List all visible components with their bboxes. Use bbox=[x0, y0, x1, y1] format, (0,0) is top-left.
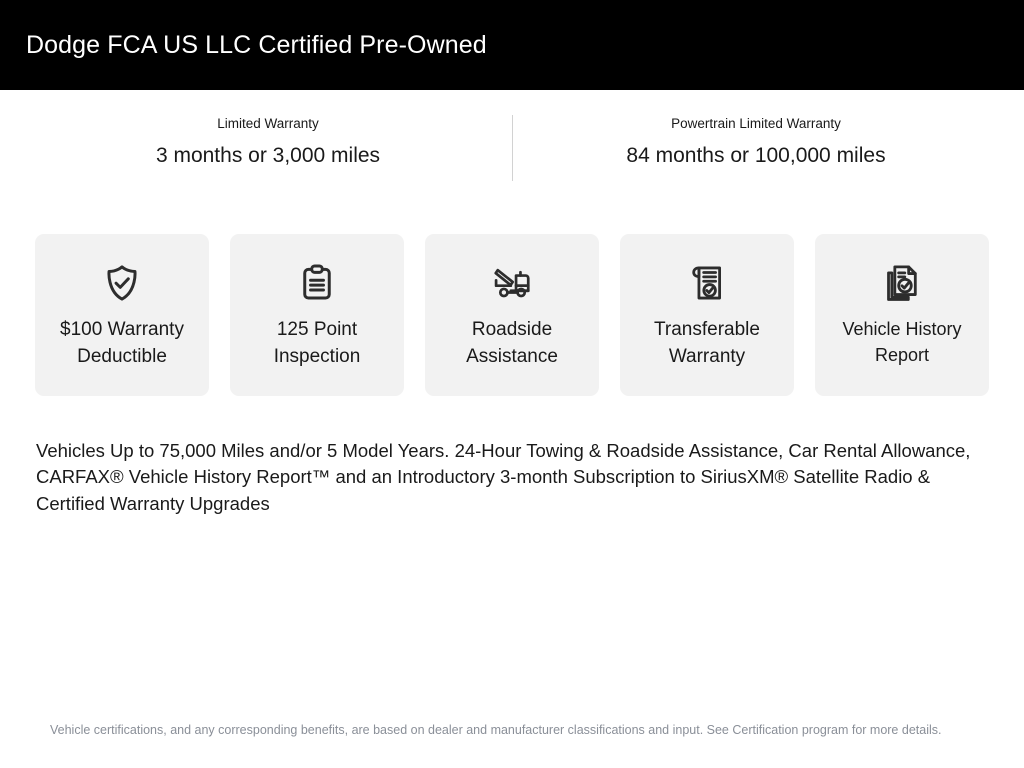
clipboard-icon bbox=[295, 261, 339, 305]
feature-card-label: $100 Warranty Deductible bbox=[43, 317, 201, 371]
page-title: Dodge FCA US LLC Certified Pre-Owned bbox=[26, 30, 487, 60]
page-header: Dodge FCA US LLC Certified Pre-Owned bbox=[0, 0, 1024, 90]
powertrain-warranty-label: Powertrain Limited Warranty bbox=[533, 115, 980, 134]
feature-card-warranty-deductible: $100 Warranty Deductible bbox=[35, 234, 209, 396]
feature-cards: $100 Warranty Deductible 125 Point Inspe… bbox=[0, 234, 1024, 396]
feature-card-label: Vehicle History Report bbox=[823, 317, 981, 368]
feature-card-roadside-assistance: Roadside Assistance bbox=[425, 234, 599, 396]
document-check-icon bbox=[685, 261, 729, 305]
powertrain-warranty-block: Powertrain Limited Warranty 84 months or… bbox=[513, 115, 1000, 181]
powertrain-warranty-value: 84 months or 100,000 miles bbox=[533, 142, 980, 169]
disclaimer-text: Vehicle certifications, and any correspo… bbox=[50, 721, 979, 740]
limited-warranty-value: 3 months or 3,000 miles bbox=[45, 142, 492, 169]
feature-card-transferable-warranty: Transferable Warranty bbox=[620, 234, 794, 396]
feature-card-label: Transferable Warranty bbox=[628, 317, 786, 371]
tow-truck-icon bbox=[490, 261, 534, 305]
limited-warranty-block: Limited Warranty 3 months or 3,000 miles bbox=[25, 115, 512, 181]
certified-preowned-page: Dodge FCA US LLC Certified Pre-Owned Lim… bbox=[0, 0, 1024, 768]
shield-check-icon bbox=[100, 261, 144, 305]
feature-card-point-inspection: 125 Point Inspection bbox=[230, 234, 404, 396]
feature-card-label: 125 Point Inspection bbox=[238, 317, 396, 371]
feature-card-vehicle-history-report: Vehicle History Report bbox=[815, 234, 989, 396]
feature-card-label: Roadside Assistance bbox=[433, 317, 591, 371]
limited-warranty-label: Limited Warranty bbox=[45, 115, 492, 134]
program-description: Vehicles Up to 75,000 Miles and/or 5 Mod… bbox=[36, 438, 988, 517]
footer-disclaimer: Vehicle certifications, and any correspo… bbox=[50, 721, 979, 740]
documents-check-icon bbox=[880, 261, 924, 305]
warranty-summary: Limited Warranty 3 months or 3,000 miles… bbox=[0, 90, 1024, 181]
